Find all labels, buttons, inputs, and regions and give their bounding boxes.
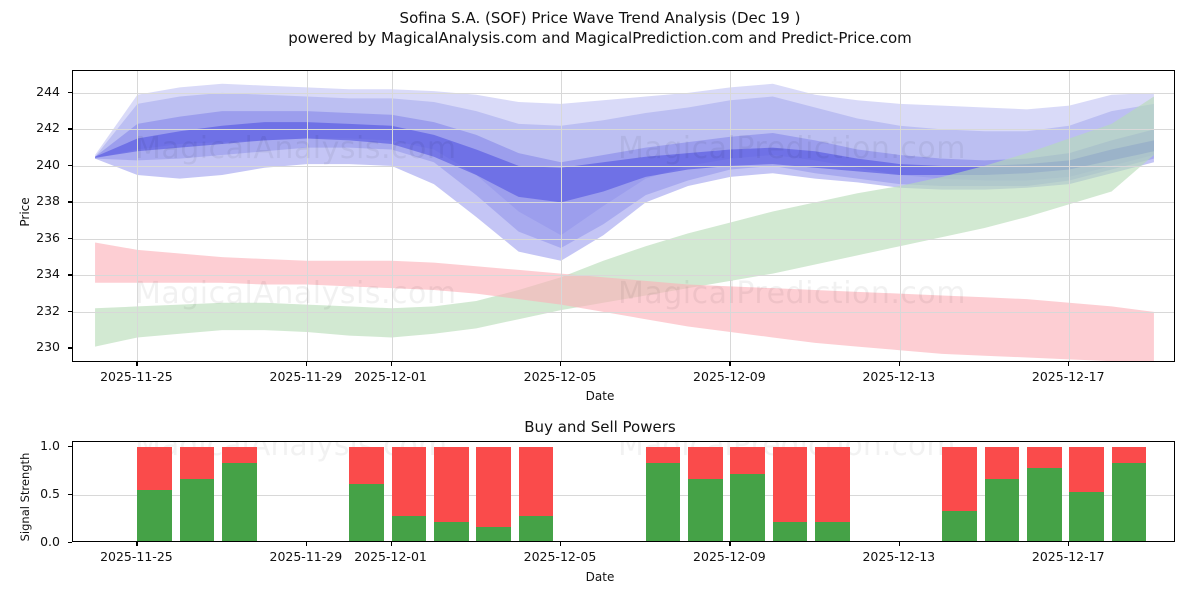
- buy-power-segment: [942, 511, 977, 542]
- signal-x-tickmark: [899, 542, 900, 546]
- signal-bar: [730, 442, 765, 542]
- buy-power-segment: [137, 490, 172, 542]
- signal-bar: [773, 442, 808, 542]
- buy-power-segment: [434, 522, 469, 542]
- signal-y-tickmark: [68, 542, 72, 543]
- signal-x-tick: 2025-12-05: [505, 549, 615, 564]
- sell-power-segment: [1112, 447, 1147, 463]
- buy-sell-title: Buy and Sell Powers: [0, 418, 1200, 436]
- signal-y-tick: 0.5: [8, 486, 60, 501]
- sell-power-segment: [815, 447, 850, 522]
- sell-power-segment: [942, 447, 977, 511]
- sell-power-segment: [519, 447, 554, 516]
- signal-x-tick: 2025-12-09: [674, 549, 784, 564]
- buy-power-segment: [349, 484, 384, 542]
- sell-power-segment: [688, 447, 723, 479]
- sell-power-segment: [1027, 447, 1062, 468]
- sell-power-segment: [180, 447, 215, 479]
- buy-power-segment: [1112, 463, 1147, 542]
- sell-power-segment: [476, 447, 511, 527]
- signal-x-axis-label: Date: [0, 570, 1200, 584]
- buy-power-segment: [1027, 468, 1062, 542]
- signal-bar: [688, 442, 723, 542]
- signal-bar: [1027, 442, 1062, 542]
- sell-power-segment: [646, 447, 681, 463]
- signal-x-tick: 2025-11-25: [81, 549, 191, 564]
- buy-power-segment: [646, 463, 681, 542]
- signal-bar: [222, 442, 257, 542]
- sell-power-segment: [773, 447, 808, 522]
- sell-power-segment: [392, 447, 427, 516]
- signal-bar: [985, 442, 1020, 542]
- signal-bar: [434, 442, 469, 542]
- signal-bar: [1069, 442, 1104, 542]
- buy-power-segment: [815, 522, 850, 542]
- signal-x-tickmark: [391, 542, 392, 546]
- signal-x-tickmark: [1068, 542, 1069, 546]
- signal-bar: [1112, 442, 1147, 542]
- sell-power-segment: [985, 447, 1020, 479]
- buy-power-segment: [1069, 492, 1104, 542]
- signal-y-tick: 0.0: [8, 534, 60, 549]
- sell-power-segment: [222, 447, 257, 463]
- buy-power-segment: [476, 527, 511, 542]
- sell-power-segment: [434, 447, 469, 522]
- signal-x-tick: 2025-12-01: [336, 549, 446, 564]
- signal-x-tick: 2025-12-17: [1013, 549, 1123, 564]
- sell-power-segment: [137, 447, 172, 490]
- buy-power-segment: [688, 479, 723, 542]
- buy-sell-plot-area: MagicalAnalysis.com MagicalPrediction.co…: [72, 441, 1175, 542]
- buy-power-segment: [730, 474, 765, 542]
- buy-power-segment: [222, 463, 257, 542]
- sell-power-segment: [1069, 447, 1104, 492]
- sell-power-segment: [730, 447, 765, 474]
- signal-y-tick: 1.0: [8, 438, 60, 453]
- signal-bar: [180, 442, 215, 542]
- signal-bar: [392, 442, 427, 542]
- signal-x-tickmark: [560, 542, 561, 546]
- buy-power-segment: [985, 479, 1020, 542]
- signal-bars: [73, 442, 1174, 541]
- buy-power-segment: [392, 516, 427, 542]
- buy-power-segment: [180, 479, 215, 542]
- buy-power-segment: [773, 522, 808, 542]
- signal-bar: [349, 442, 384, 542]
- buy-power-segment: [519, 516, 554, 542]
- signal-bar: [519, 442, 554, 542]
- signal-x-tickmark: [136, 542, 137, 546]
- signal-bar: [137, 442, 172, 542]
- signal-x-tickmark: [729, 542, 730, 546]
- signal-x-tick: 2025-12-13: [844, 549, 954, 564]
- sell-power-segment: [349, 447, 384, 485]
- signal-bar: [646, 442, 681, 542]
- signal-bar: [942, 442, 977, 542]
- signal-bar: [815, 442, 850, 542]
- buy-sell-powers-panel: Buy and Sell Powers Signal Strength 0.00…: [0, 0, 1200, 600]
- signal-bar: [476, 442, 511, 542]
- signal-x-tickmark: [306, 542, 307, 546]
